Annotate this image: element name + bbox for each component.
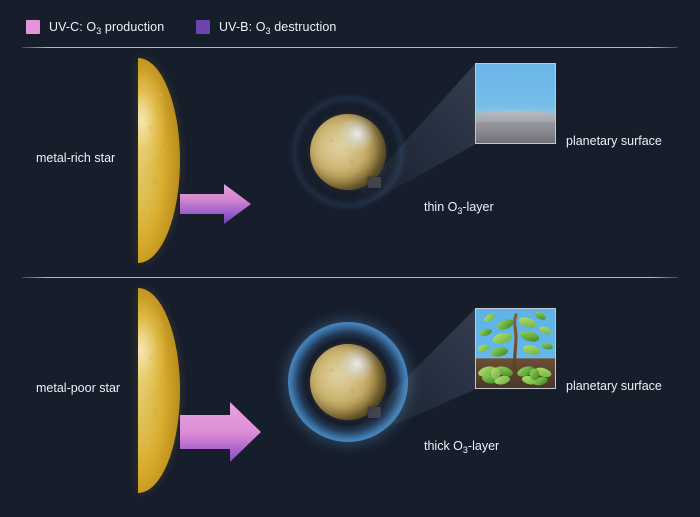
planet-body-metal-rich: [310, 114, 386, 190]
legend-uv-b-sub: 3: [266, 26, 271, 36]
uv-radiation-arrow-metal-rich: [180, 183, 252, 225]
purple-square-swatch: [196, 20, 210, 34]
star-label-metal-poor: metal-poor star: [36, 381, 120, 395]
ozone-thin-suffix: -layer: [462, 200, 493, 214]
ozone-thick-sub: 3: [463, 445, 468, 455]
legend-item-uv-c-label: UV-C: O3 production: [49, 20, 164, 34]
legend: UV-C: O3 production UV-B: O3 destruction: [0, 0, 700, 46]
legend-item-uv-c: UV-C: O3 production: [26, 20, 164, 34]
ozone-thick-prefix: thick O: [424, 439, 463, 453]
pink-square-swatch: [26, 20, 40, 34]
legend-item-uv-b-label: UV-B: O3 destruction: [219, 20, 336, 34]
star-half-disc-metal-poor: [138, 288, 180, 493]
ozone-thin-prefix: thin O: [424, 200, 457, 214]
surface-sample-marker: [368, 407, 381, 418]
panel-metal-poor: metal-poor star: [0, 278, 700, 508]
inset-planetary-surface-metal-rich: [475, 63, 556, 144]
uv-radiation-arrow-metal-poor: [180, 401, 262, 463]
panel-metal-rich: metal-rich star: [0, 48, 700, 278]
legend-uv-c-sub: 3: [96, 26, 101, 36]
scene-vegetated-landscape: [476, 309, 555, 388]
horizon-line: [475, 111, 556, 122]
legend-uv-c-prefix: UV-C: O: [49, 20, 96, 34]
legend-item-uv-b: UV-B: O3 destruction: [196, 20, 336, 34]
planet-group-metal-rich: [287, 56, 409, 266]
legend-uv-c-suffix: production: [101, 20, 164, 34]
ozone-thick-suffix: -layer: [468, 439, 499, 453]
star-half-disc-metal-rich: [138, 58, 180, 263]
plants-illustration: [476, 309, 555, 388]
inset-planetary-surface-metal-poor: [475, 308, 556, 389]
ozone-label-thin: thin O3-layer: [424, 200, 494, 214]
planet-group-metal-poor: [287, 286, 409, 496]
planetary-surface-label-metal-poor: planetary surface: [566, 379, 662, 393]
scene-barren-landscape: [476, 64, 555, 143]
legend-uv-b-prefix: UV-B: O: [219, 20, 266, 34]
surface-sample-marker: [368, 177, 381, 188]
figure-canvas: UV-C: O3 production UV-B: O3 destruction…: [0, 0, 700, 517]
ozone-label-thick: thick O3-layer: [424, 439, 499, 453]
legend-uv-b-suffix: destruction: [271, 20, 337, 34]
star-label-metal-rich: metal-rich star: [36, 151, 115, 165]
planetary-surface-label-metal-rich: planetary surface: [566, 134, 662, 148]
planet-body-metal-poor: [310, 344, 386, 420]
ozone-thin-sub: 3: [457, 206, 462, 216]
